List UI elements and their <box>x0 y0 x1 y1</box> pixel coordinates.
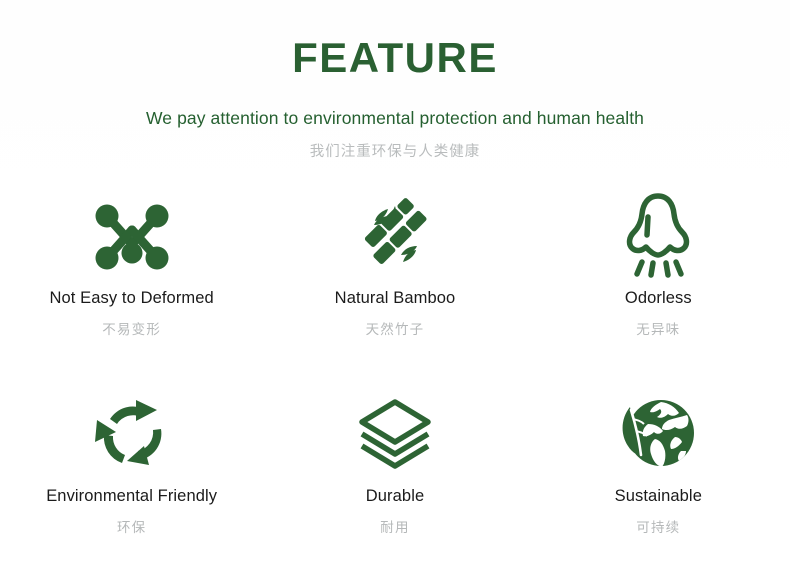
feature-item-not-easy-to-deformed: Not Easy to Deformed 不易变形 <box>0 183 263 379</box>
bamboo-icon <box>357 183 433 289</box>
feature-label-en: Sustainable <box>615 487 702 505</box>
feature-item-sustainable: Sustainable 可持续 <box>527 379 790 575</box>
page-title: FEATURE <box>0 36 790 80</box>
feature-row-1: Not Easy to Deformed 不易变形 <box>0 183 790 379</box>
globe-leaf-icon <box>617 379 699 487</box>
feature-label-cn: 耐用 <box>380 516 409 536</box>
feature-label-en: Natural Bamboo <box>335 289 456 307</box>
molecule-node-icon <box>93 183 171 289</box>
feature-item-environmental-friendly: Environmental Friendly 环保 <box>0 379 263 575</box>
section-header: FEATURE We pay attention to environmenta… <box>0 0 790 161</box>
feature-label-en: Not Easy to Deformed <box>50 289 214 307</box>
feature-label-cn: 天然竹子 <box>366 318 425 338</box>
nose-icon <box>622 183 694 289</box>
feature-row-2: Environmental Friendly 环保 <box>0 379 790 575</box>
feature-item-odorless: Odorless 无异味 <box>527 183 790 379</box>
subtitle-chinese: 我们注重环保与人类健康 <box>0 140 790 161</box>
feature-grid: Not Easy to Deformed 不易变形 <box>0 183 790 575</box>
stacked-layers-icon <box>355 379 435 487</box>
subtitle-english: We pay attention to environmental protec… <box>0 108 790 129</box>
recycle-icon <box>92 379 172 487</box>
feature-label-cn: 环保 <box>117 516 146 536</box>
feature-label-en: Environmental Friendly <box>46 487 217 505</box>
feature-item-durable: Durable 耐用 <box>263 379 526 575</box>
feature-label-cn: 无异味 <box>636 318 680 338</box>
feature-label-en: Durable <box>366 487 424 505</box>
feature-label-en: Odorless <box>625 289 692 307</box>
feature-section: FEATURE We pay attention to environmenta… <box>0 0 790 576</box>
feature-label-cn: 不易变形 <box>102 318 161 338</box>
feature-item-natural-bamboo: Natural Bamboo 天然竹子 <box>263 183 526 379</box>
feature-label-cn: 可持续 <box>636 516 680 536</box>
